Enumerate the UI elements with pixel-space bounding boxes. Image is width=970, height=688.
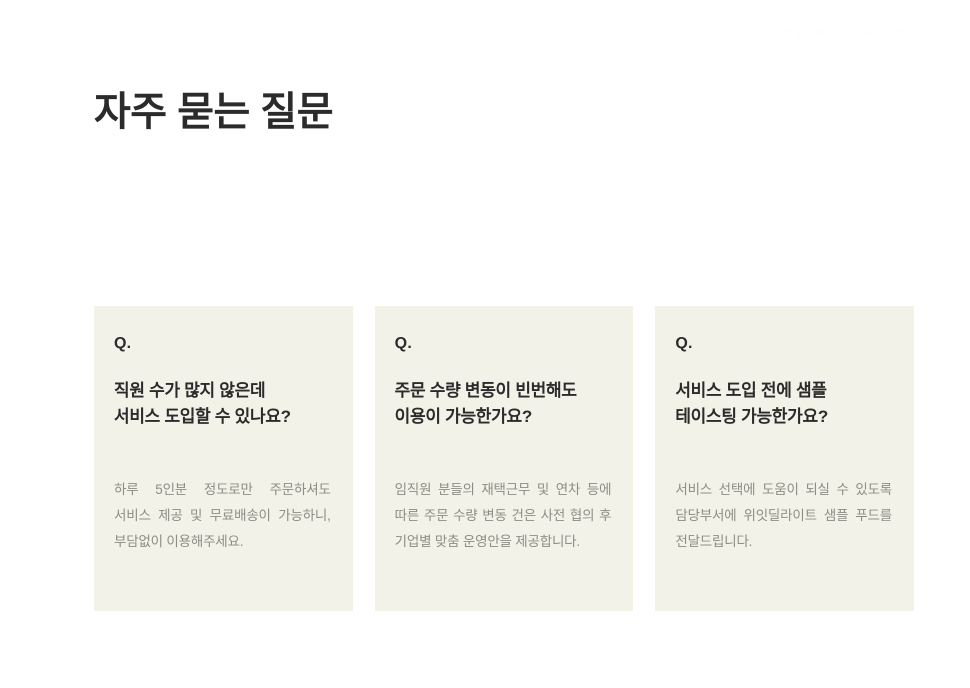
faq-card[interactable]: Q. 주문 수량 변동이 빈번해도 이용이 가능한가요? 임직원 분들의 재택근… [375, 306, 634, 611]
question-marker: Q. [395, 336, 612, 352]
question-marker: Q. [114, 336, 331, 352]
question-text: 직원 수가 많지 않은데 서비스 도입할 수 있나요? [114, 378, 331, 431]
page-watermark: 위잇딜라이트 기업 복지 서비스 [773, 24, 920, 40]
answer-text: 하루 5인분 정도로만 주문하셔도 서비스 제공 및 무료배송이 가능하니, 부… [114, 477, 331, 556]
answer-text: 임직원 분들의 재택근무 및 연차 등에 따른 주문 수량 변동 건은 사전 협… [395, 477, 612, 556]
faq-card[interactable]: Q. 직원 수가 많지 않은데 서비스 도입할 수 있나요? 하루 5인분 정도… [94, 306, 353, 611]
answer-text: 서비스 선택에 도움이 되실 수 있도록 담당부서에 위잇딜라이트 샘플 푸드를… [675, 477, 892, 556]
faq-card-grid: Q. 직원 수가 많지 않은데 서비스 도입할 수 있나요? 하루 5인분 정도… [94, 306, 914, 611]
page-title: 자주 묻는 질문 [94, 88, 333, 136]
faq-page: 위잇딜라이트 기업 복지 서비스 자주 묻는 질문 Q. 직원 수가 많지 않은… [0, 0, 970, 688]
faq-card[interactable]: Q. 서비스 도입 전에 샘플 테이스팅 가능한가요? 서비스 선택에 도움이 … [655, 306, 914, 611]
question-text: 서비스 도입 전에 샘플 테이스팅 가능한가요? [675, 378, 892, 431]
question-text: 주문 수량 변동이 빈번해도 이용이 가능한가요? [395, 378, 612, 431]
question-marker: Q. [675, 336, 892, 352]
